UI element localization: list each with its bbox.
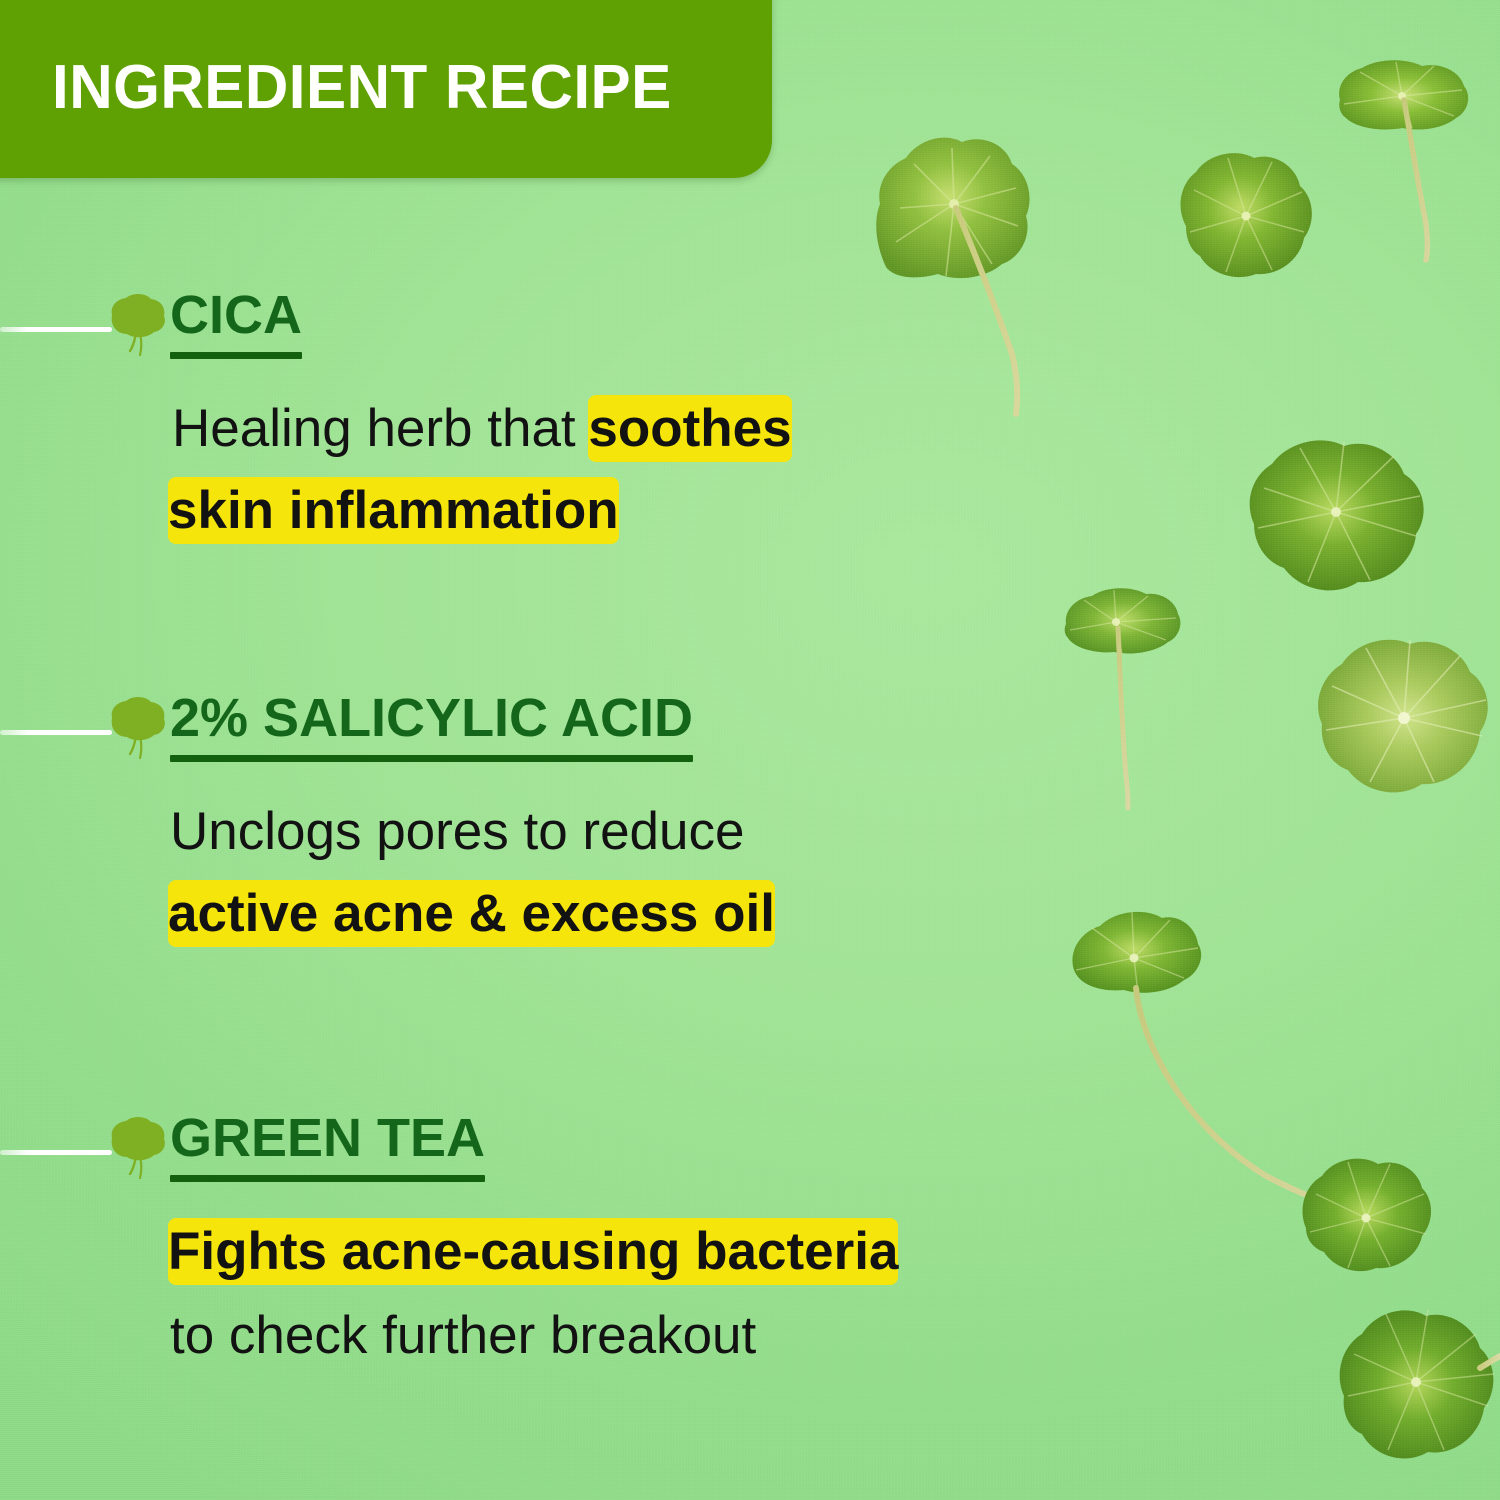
ingredient-block-salicylic-acid: 2% SALICYLIC ACID Unclogs pores to reduc… bbox=[0, 688, 1180, 950]
leaf-icon bbox=[104, 696, 168, 766]
description-segment: Unclogs pores to reduce bbox=[170, 798, 745, 865]
ingredient-name: CICA bbox=[170, 285, 302, 345]
description-line: Healing herb that soothes bbox=[172, 393, 1180, 465]
connector-line bbox=[0, 730, 112, 735]
ingredient-name-wrap: 2% SALICYLIC ACID bbox=[170, 688, 693, 762]
description-line: to check further breakout bbox=[170, 1300, 1180, 1372]
heading-underline bbox=[170, 755, 693, 762]
description-line: skin inflammation bbox=[170, 475, 1180, 547]
ingredient-name: GREEN TEA bbox=[170, 1108, 485, 1168]
ingredient-description: Fights acne-causing bacteria to check fu… bbox=[170, 1216, 1180, 1372]
ingredient-name: 2% SALICYLIC ACID bbox=[170, 688, 693, 748]
heading-underline bbox=[170, 352, 302, 359]
ingredient-heading-row: 2% SALICYLIC ACID bbox=[0, 688, 1180, 774]
header-banner: INGREDIENT RECIPE bbox=[0, 0, 772, 178]
connector-line bbox=[0, 327, 112, 332]
description-segment: to check further breakout bbox=[170, 1302, 756, 1369]
description-segment: Healing herb that bbox=[172, 395, 590, 462]
pennywort-leaf-photo bbox=[1238, 432, 1438, 612]
description-line: Fights acne-causing bacteria bbox=[170, 1216, 1180, 1288]
pennywort-leaf-photo bbox=[1294, 1150, 1444, 1300]
highlighted-segment: active acne & excess oil bbox=[168, 880, 775, 947]
highlighted-segment: soothes bbox=[588, 395, 791, 462]
pennywort-leaf-photo bbox=[1168, 140, 1328, 300]
ingredient-name-wrap: GREEN TEA bbox=[170, 1108, 485, 1182]
ingredient-name-wrap: CICA bbox=[170, 285, 302, 359]
heading-underline bbox=[170, 1175, 485, 1182]
description-line: active acne & excess oil bbox=[170, 878, 1180, 950]
ingredient-block-cica: CICA Healing herb that soothes skin infl… bbox=[0, 285, 1180, 547]
ingredient-heading-row: GREEN TEA bbox=[0, 1108, 1180, 1194]
page-title: INGREDIENT RECIPE bbox=[52, 57, 672, 119]
highlighted-segment: skin inflammation bbox=[168, 477, 619, 544]
leaf-icon bbox=[104, 1116, 168, 1186]
leaf-icon bbox=[104, 293, 168, 363]
ingredient-recipe-poster: INGREDIENT RECIPE CICA Healing herb that… bbox=[0, 0, 1500, 1500]
pennywort-leaf-photo bbox=[1326, 34, 1486, 264]
description-line: Unclogs pores to reduce bbox=[170, 796, 1180, 868]
ingredient-block-green-tea: GREEN TEA Fights acne-causing bacteria t… bbox=[0, 1108, 1180, 1372]
ingredient-heading-row: CICA bbox=[0, 285, 1180, 371]
ingredient-description: Unclogs pores to reduce active acne & ex… bbox=[170, 796, 1180, 950]
pennywort-leaf-photo bbox=[1308, 630, 1498, 820]
ingredient-description: Healing herb that soothes skin inflammat… bbox=[170, 393, 1180, 547]
highlighted-segment: Fights acne-causing bacteria bbox=[168, 1218, 898, 1285]
connector-line bbox=[0, 1150, 112, 1155]
pennywort-leaf-photo bbox=[1330, 1300, 1500, 1485]
